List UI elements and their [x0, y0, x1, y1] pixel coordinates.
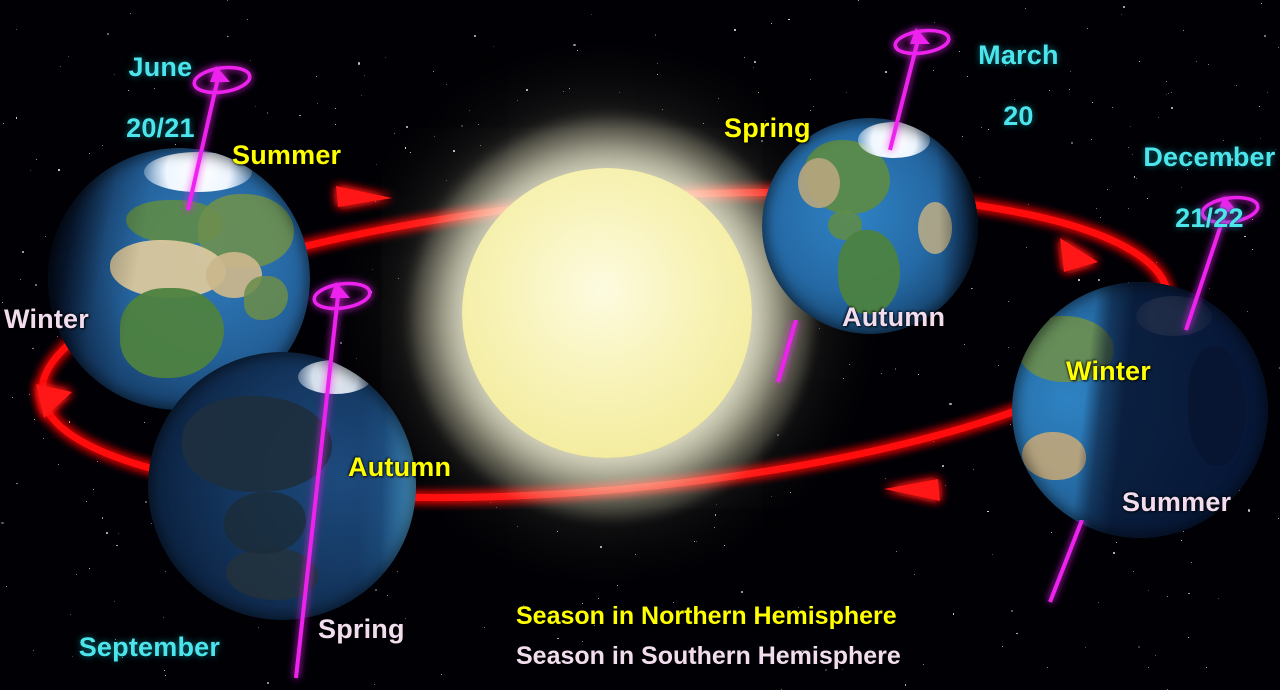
label-march-date: March 20: [938, 10, 1068, 161]
label-march-date-line2: 20: [1003, 101, 1033, 131]
orbit-arrow-right: [1060, 238, 1098, 272]
label-june-date-line1: June: [128, 52, 192, 82]
label-december-date: December 21/22: [1110, 112, 1278, 263]
label-september-date-line1: September: [79, 632, 220, 662]
orbit-arrow-left: [36, 384, 72, 418]
seasons-diagram: June 20/21 Summer Winter September 22/23…: [0, 0, 1280, 690]
label-june-northern-season: Summer: [232, 140, 341, 170]
axis-december-solstice-south: [1020, 520, 1110, 620]
label-december-date-line1: December: [1143, 142, 1275, 172]
label-march-date-line1: March: [978, 40, 1059, 70]
label-september-northern-season: Autumn: [348, 452, 451, 482]
label-june-date: June 20/21: [70, 22, 220, 173]
label-december-northern-season: Winter: [1066, 356, 1151, 386]
legend-northern-hemisphere: Season in Northern Hemisphere: [516, 602, 897, 631]
axis-line-south: [778, 320, 796, 382]
orbit-arrow-top: [336, 186, 392, 207]
label-march-northern-season: Spring: [724, 113, 811, 143]
label-june-date-line2: 20/21: [126, 113, 195, 143]
axis-march-equinox-south: [770, 320, 850, 400]
label-september-southern-season: Spring: [318, 614, 405, 644]
axis-line-south: [1050, 520, 1082, 602]
orbit-arrow-bottom: [884, 479, 940, 501]
label-september-date: September 22/23: [34, 602, 234, 690]
label-june-southern-season: Winter: [4, 304, 89, 334]
label-december-date-line2: 21/22: [1175, 203, 1244, 233]
sun: [462, 168, 752, 458]
label-march-southern-season: Autumn: [842, 302, 945, 332]
label-december-southern-season: Summer: [1122, 487, 1231, 517]
axis-line: [890, 40, 918, 150]
legend-southern-hemisphere: Season in Southern Hemisphere: [516, 642, 901, 671]
